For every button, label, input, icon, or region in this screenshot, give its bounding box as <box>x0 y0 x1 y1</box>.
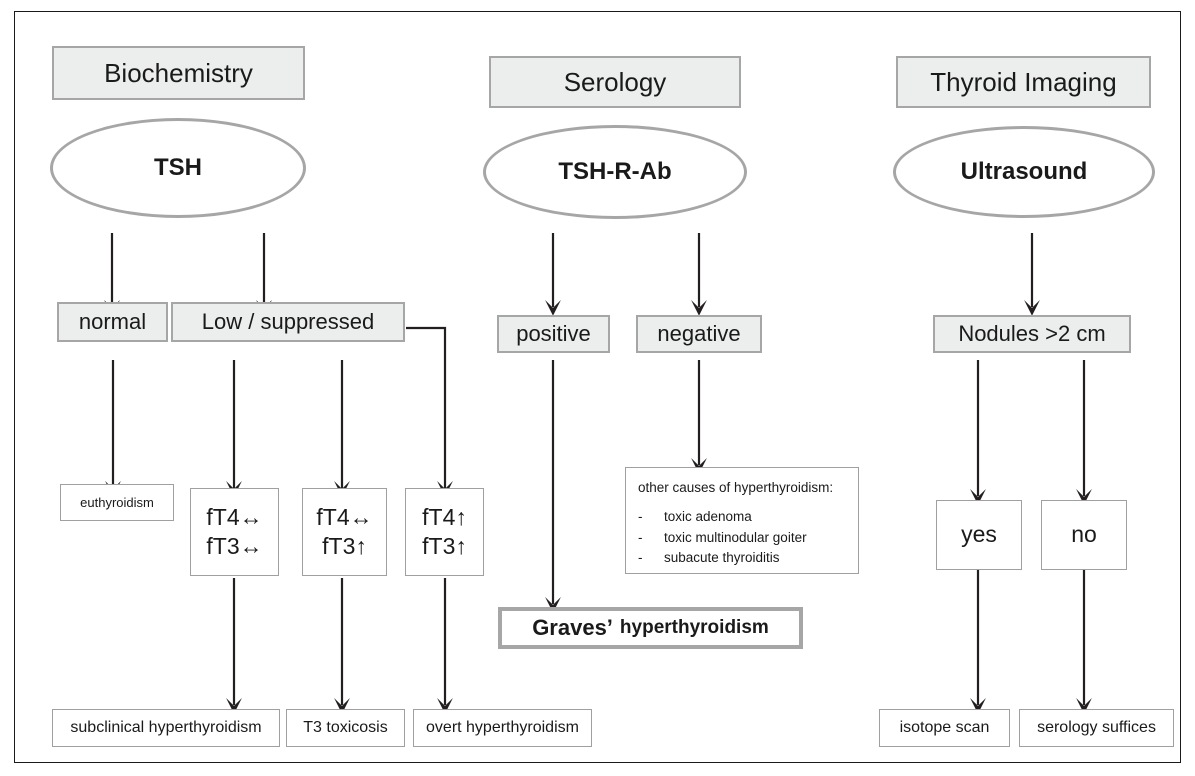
outcome-isotope-scan: isotope scan <box>879 709 1010 747</box>
node-tsh-label: TSH <box>154 154 202 182</box>
state-nodules: Nodules >2 cm <box>933 315 1131 353</box>
outcome-overt-label: overt hyperthyroidism <box>426 719 579 738</box>
other-causes-item-label: toxic adenoma <box>664 507 752 527</box>
header-serology-label: Serology <box>564 67 667 98</box>
header-thyroid-imaging-label: Thyroid Imaging <box>930 67 1116 98</box>
list-dash: - <box>638 507 664 527</box>
result-euthyroidism: euthyroidism <box>60 484 174 521</box>
outcome-t3-toxicosis: T3 toxicosis <box>286 709 405 747</box>
other-causes-item-label: subacute thyroiditis <box>664 548 780 568</box>
other-causes-box: other causes of hyperthyroidism: - toxic… <box>625 467 859 574</box>
state-low-suppressed-label: Low / suppressed <box>202 309 374 335</box>
result-ft-overt-line1: fT4↑ <box>422 504 467 531</box>
header-thyroid-imaging: Thyroid Imaging <box>896 56 1151 108</box>
result-yes: yes <box>936 500 1022 570</box>
result-ft-overt: fT4↑ fT3↑ <box>405 488 484 576</box>
node-ultrasound-label: Ultrasound <box>961 158 1088 186</box>
other-causes-item: - toxic multinodular goiter <box>638 528 844 548</box>
result-ft-normal-line1: fT4↔ <box>206 504 262 531</box>
diagram-frame: Biochemistry TSH normal Low / suppressed… <box>14 11 1181 763</box>
result-ft-overt-line2: fT3↑ <box>422 533 467 560</box>
node-tsh-r-ab: TSH-R-Ab <box>483 125 747 219</box>
outcome-overt-hyperthyroidism: overt hyperthyroidism <box>413 709 592 747</box>
node-ultrasound: Ultrasound <box>893 126 1155 218</box>
outcome-serology-suffices-label: serology suffices <box>1037 719 1156 738</box>
state-positive: positive <box>497 315 610 353</box>
result-ft-normal-line2: fT3↔ <box>206 533 262 560</box>
state-low-suppressed: Low / suppressed <box>171 302 405 342</box>
result-yes-label: yes <box>961 521 997 548</box>
outcome-isotope-scan-label: isotope scan <box>900 719 990 738</box>
result-ft-t3-lines: fT4↔ fT3↑ <box>316 504 372 560</box>
list-dash: - <box>638 528 664 548</box>
result-ft-normal-lines: fT4↔ fT3↔ <box>206 504 262 560</box>
outcome-serology-suffices: serology suffices <box>1019 709 1174 747</box>
result-no: no <box>1041 500 1127 570</box>
other-causes-item: - subacute thyroiditis <box>638 548 844 568</box>
state-negative: negative <box>636 315 762 353</box>
outcome-t3-toxicosis-label: T3 toxicosis <box>303 719 387 738</box>
list-dash: - <box>638 548 664 568</box>
header-biochemistry-label: Biochemistry <box>104 58 253 89</box>
state-positive-label: positive <box>516 321 591 347</box>
result-no-label: no <box>1071 521 1097 548</box>
result-ft-overt-lines: fT4↑ fT3↑ <box>422 504 467 560</box>
other-causes-list: - toxic adenoma - toxic multinodular goi… <box>638 507 844 568</box>
result-graves-hyperthyroidism: Graves’ hyperthyroidism <box>498 607 803 649</box>
other-causes-item-label: toxic multinodular goiter <box>664 528 807 548</box>
graves-rest-label: hyperthyroidism <box>620 617 769 639</box>
result-ft-t3-toxicosis: fT4↔ fT3↑ <box>302 488 387 576</box>
other-causes-item: - toxic adenoma <box>638 507 844 527</box>
outcome-subclinical-hyperthyroidism: subclinical hyperthyroidism <box>52 709 280 747</box>
other-causes-title: other causes of hyperthyroidism: <box>638 478 844 498</box>
result-ft-t3-line1: fT4↔ <box>316 504 372 531</box>
outcome-subclinical-label: subclinical hyperthyroidism <box>70 719 261 738</box>
state-nodules-label: Nodules >2 cm <box>958 321 1105 347</box>
node-tsh-r-ab-label: TSH-R-Ab <box>558 158 671 186</box>
header-biochemistry: Biochemistry <box>52 46 305 100</box>
graves-strong-label: Graves’ <box>532 615 613 641</box>
result-euthyroidism-label: euthyroidism <box>80 495 154 510</box>
result-ft-t3-line2: fT3↑ <box>322 533 367 560</box>
state-normal-label: normal <box>79 309 146 335</box>
state-normal: normal <box>57 302 168 342</box>
node-tsh: TSH <box>50 118 306 218</box>
header-serology: Serology <box>489 56 741 108</box>
result-ft-normal: fT4↔ fT3↔ <box>190 488 279 576</box>
diagram-canvas: Biochemistry TSH normal Low / suppressed… <box>0 0 1195 776</box>
state-negative-label: negative <box>657 321 740 347</box>
